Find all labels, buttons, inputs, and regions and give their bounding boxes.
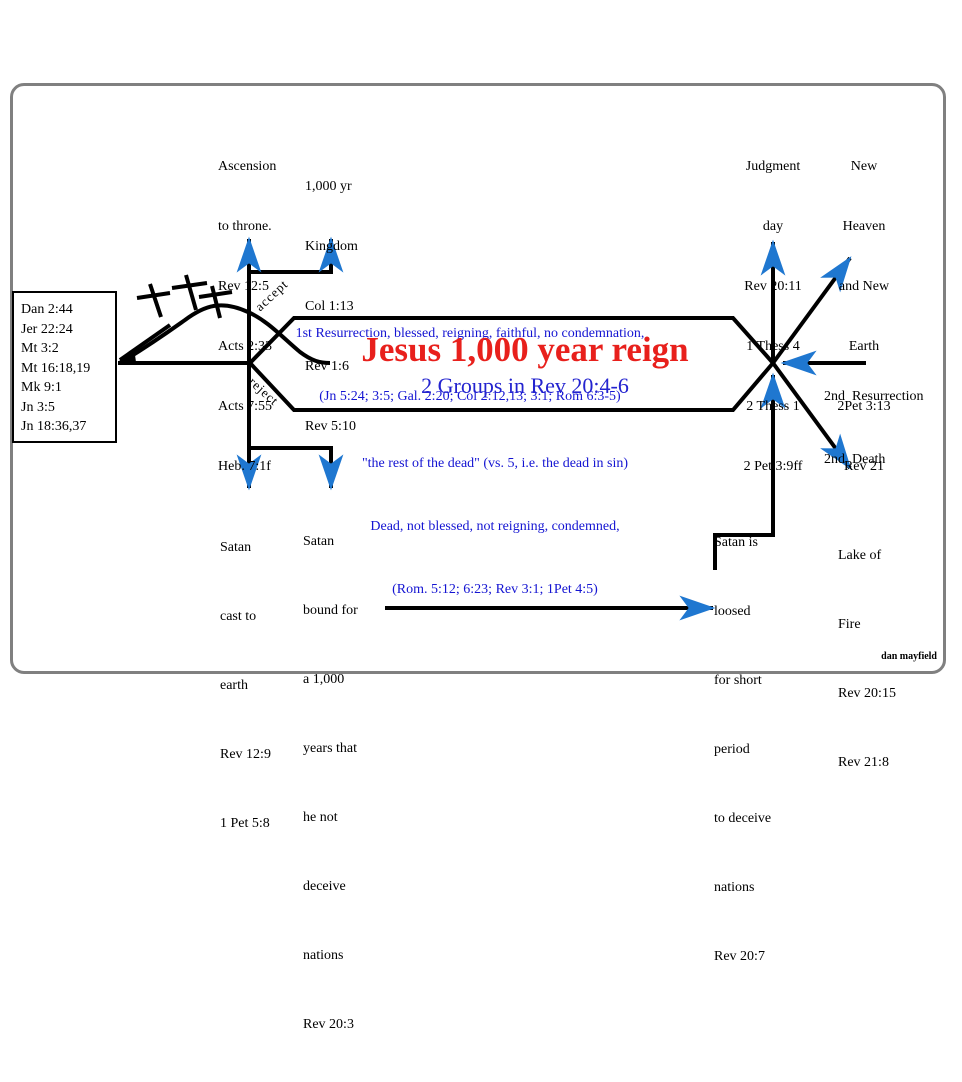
- satan-bound-line: a 1,000: [303, 668, 358, 691]
- judgment-day-block: Judgment day Rev 20:11 1 Thess 4 2 Thess…: [732, 117, 814, 517]
- satan-cast-line: earth: [220, 674, 271, 697]
- kingdom-line: Kingdom: [305, 237, 358, 257]
- rest-of-the-dead-text: "the rest of the dead" (vs. 5, i.e. the …: [340, 411, 650, 642]
- satan-loosed-line: Satan is: [714, 531, 771, 554]
- lake-of-fire-line: Fire: [838, 613, 896, 636]
- satan-bound-line: nations: [303, 944, 358, 967]
- satan-bound-line: Satan: [303, 530, 358, 553]
- satan-cast-line: Satan: [220, 536, 271, 559]
- left-box-line: Mk 9:1: [21, 378, 115, 398]
- judgment-line: Rev 20:11: [732, 277, 814, 297]
- satan-bound-line: he not: [303, 806, 358, 829]
- lake-of-fire-line: Lake of: [838, 544, 896, 567]
- new-heaven-line: New: [824, 157, 904, 177]
- left-box-line: Jn 3:5: [21, 398, 115, 418]
- left-box-line: Mt 3:2: [21, 339, 115, 359]
- second-resurrection-death-label: 2nd Resurrection 2nd Death: [824, 344, 924, 512]
- lake-of-fire-line: Rev 21:8: [838, 751, 896, 774]
- rest-of-dead-line: (Rom. 5:12; 6:23; Rev 3:1; 1Pet 4:5): [340, 579, 650, 600]
- satan-cast-line: Rev 12:9: [220, 743, 271, 766]
- satan-bound-line: Rev 20:3: [303, 1013, 358, 1036]
- judgment-line: day: [732, 217, 814, 237]
- satan-cast-to-earth-block: Satan cast to earth Rev 12:9 1 Pet 5:8: [220, 490, 271, 881]
- ascension-line: Ascension: [218, 157, 276, 177]
- ascension-line: Heb. 7:1f: [218, 457, 276, 477]
- satan-loosed-line: for short: [714, 669, 771, 692]
- ascension-line: Acts 2:33: [218, 337, 276, 357]
- left-box-line: Jer 22:24: [21, 320, 115, 340]
- satan-bound-block: Satan bound for a 1,000 years that he no…: [303, 484, 358, 1082]
- satan-bound-line: deceive: [303, 875, 358, 898]
- kingdom-prophecy-box: Dan 2:44 Jer 22:24 Mt 3:2 Mt 16:18,19 Mk…: [12, 291, 117, 443]
- satan-cast-line: 1 Pet 5:8: [220, 812, 271, 835]
- judgment-line: 2 Thess 1: [732, 397, 814, 417]
- lake-of-fire-line: Rev 20:15: [838, 682, 896, 705]
- rest-of-dead-line: "the rest of the dead" (vs. 5, i.e. the …: [340, 453, 650, 474]
- satan-loosed-block: Satan is loosed for short period to dece…: [714, 485, 771, 1014]
- satan-cast-line: cast to: [220, 605, 271, 628]
- left-box-line: Dan 2:44: [21, 300, 115, 320]
- satan-loosed-line: nations: [714, 876, 771, 899]
- rest-of-dead-line: Dead, not blessed, not reigning, condemn…: [340, 516, 650, 537]
- second-death-line: 2nd Death: [824, 449, 924, 470]
- satan-bound-line: bound for: [303, 599, 358, 622]
- satan-bound-line: years that: [303, 737, 358, 760]
- left-box-line: Jn 18:36,37: [21, 417, 115, 437]
- judgment-line: Judgment: [732, 157, 814, 177]
- page-subtitle: 2 Groups in Rev 20:4-6: [330, 373, 720, 399]
- second-resurrection-line: 2nd Resurrection: [824, 386, 924, 407]
- satan-loosed-line: Rev 20:7: [714, 945, 771, 968]
- diagram-canvas: Dan 2:44 Jer 22:24 Mt 3:2 Mt 16:18,19 Mk…: [0, 0, 962, 768]
- page-title: Jesus 1,000 year reign: [330, 330, 720, 370]
- satan-loosed-line: loosed: [714, 600, 771, 623]
- new-heaven-line: Heaven: [824, 217, 904, 237]
- author-signature: dan mayfield: [881, 651, 937, 662]
- left-box-line: Mt 16:18,19: [21, 359, 115, 379]
- ascension-line: to throne.: [218, 217, 276, 237]
- judgment-line: 2 Pet 3:9ff: [732, 457, 814, 477]
- satan-loosed-line: period: [714, 738, 771, 761]
- judgment-line: 1 Thess 4: [732, 337, 814, 357]
- kingdom-line: 1,000 yr: [305, 177, 358, 197]
- new-heaven-line: and New: [824, 277, 904, 297]
- satan-loosed-line: to deceive: [714, 807, 771, 830]
- ascension-block: Ascension to throne. Rev 12:5 Acts 2:33 …: [218, 117, 276, 517]
